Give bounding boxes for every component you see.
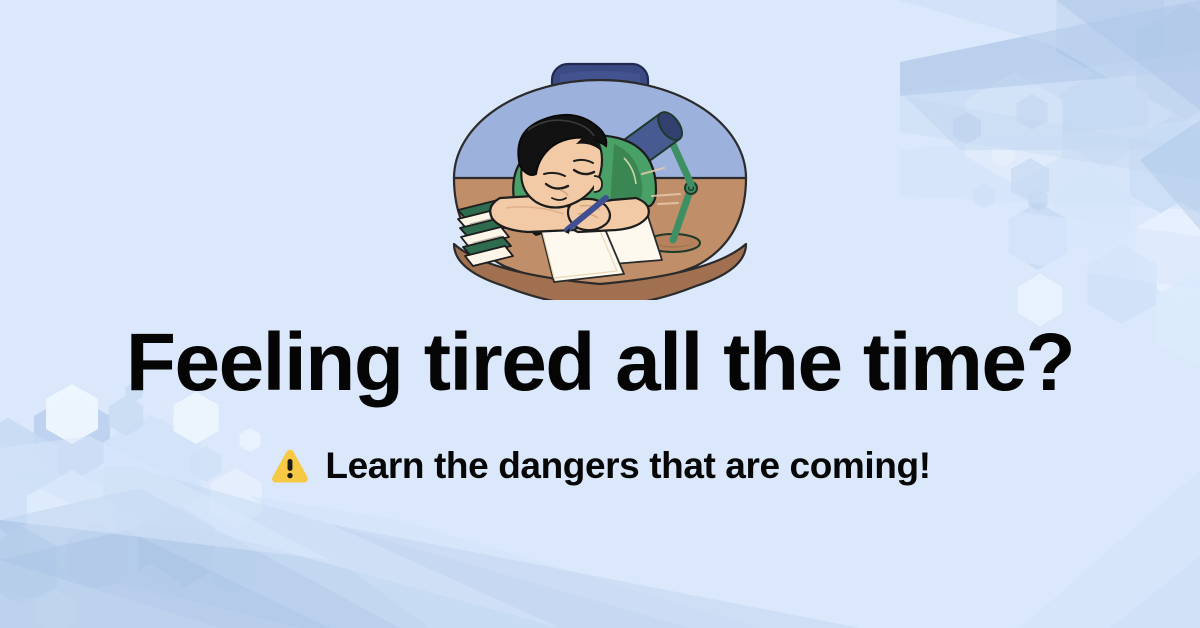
warning-triangle-icon xyxy=(269,445,311,487)
page-title: Feeling tired all the time? xyxy=(0,322,1200,404)
promo-banner: Feeling tired all the time? Learn the da… xyxy=(0,0,1200,628)
student-asleep-at-desk-illustration xyxy=(428,48,772,300)
subtitle-text: Learn the dangers that are coming! xyxy=(325,443,930,489)
subtitle: Learn the dangers that are coming! xyxy=(0,443,1200,489)
